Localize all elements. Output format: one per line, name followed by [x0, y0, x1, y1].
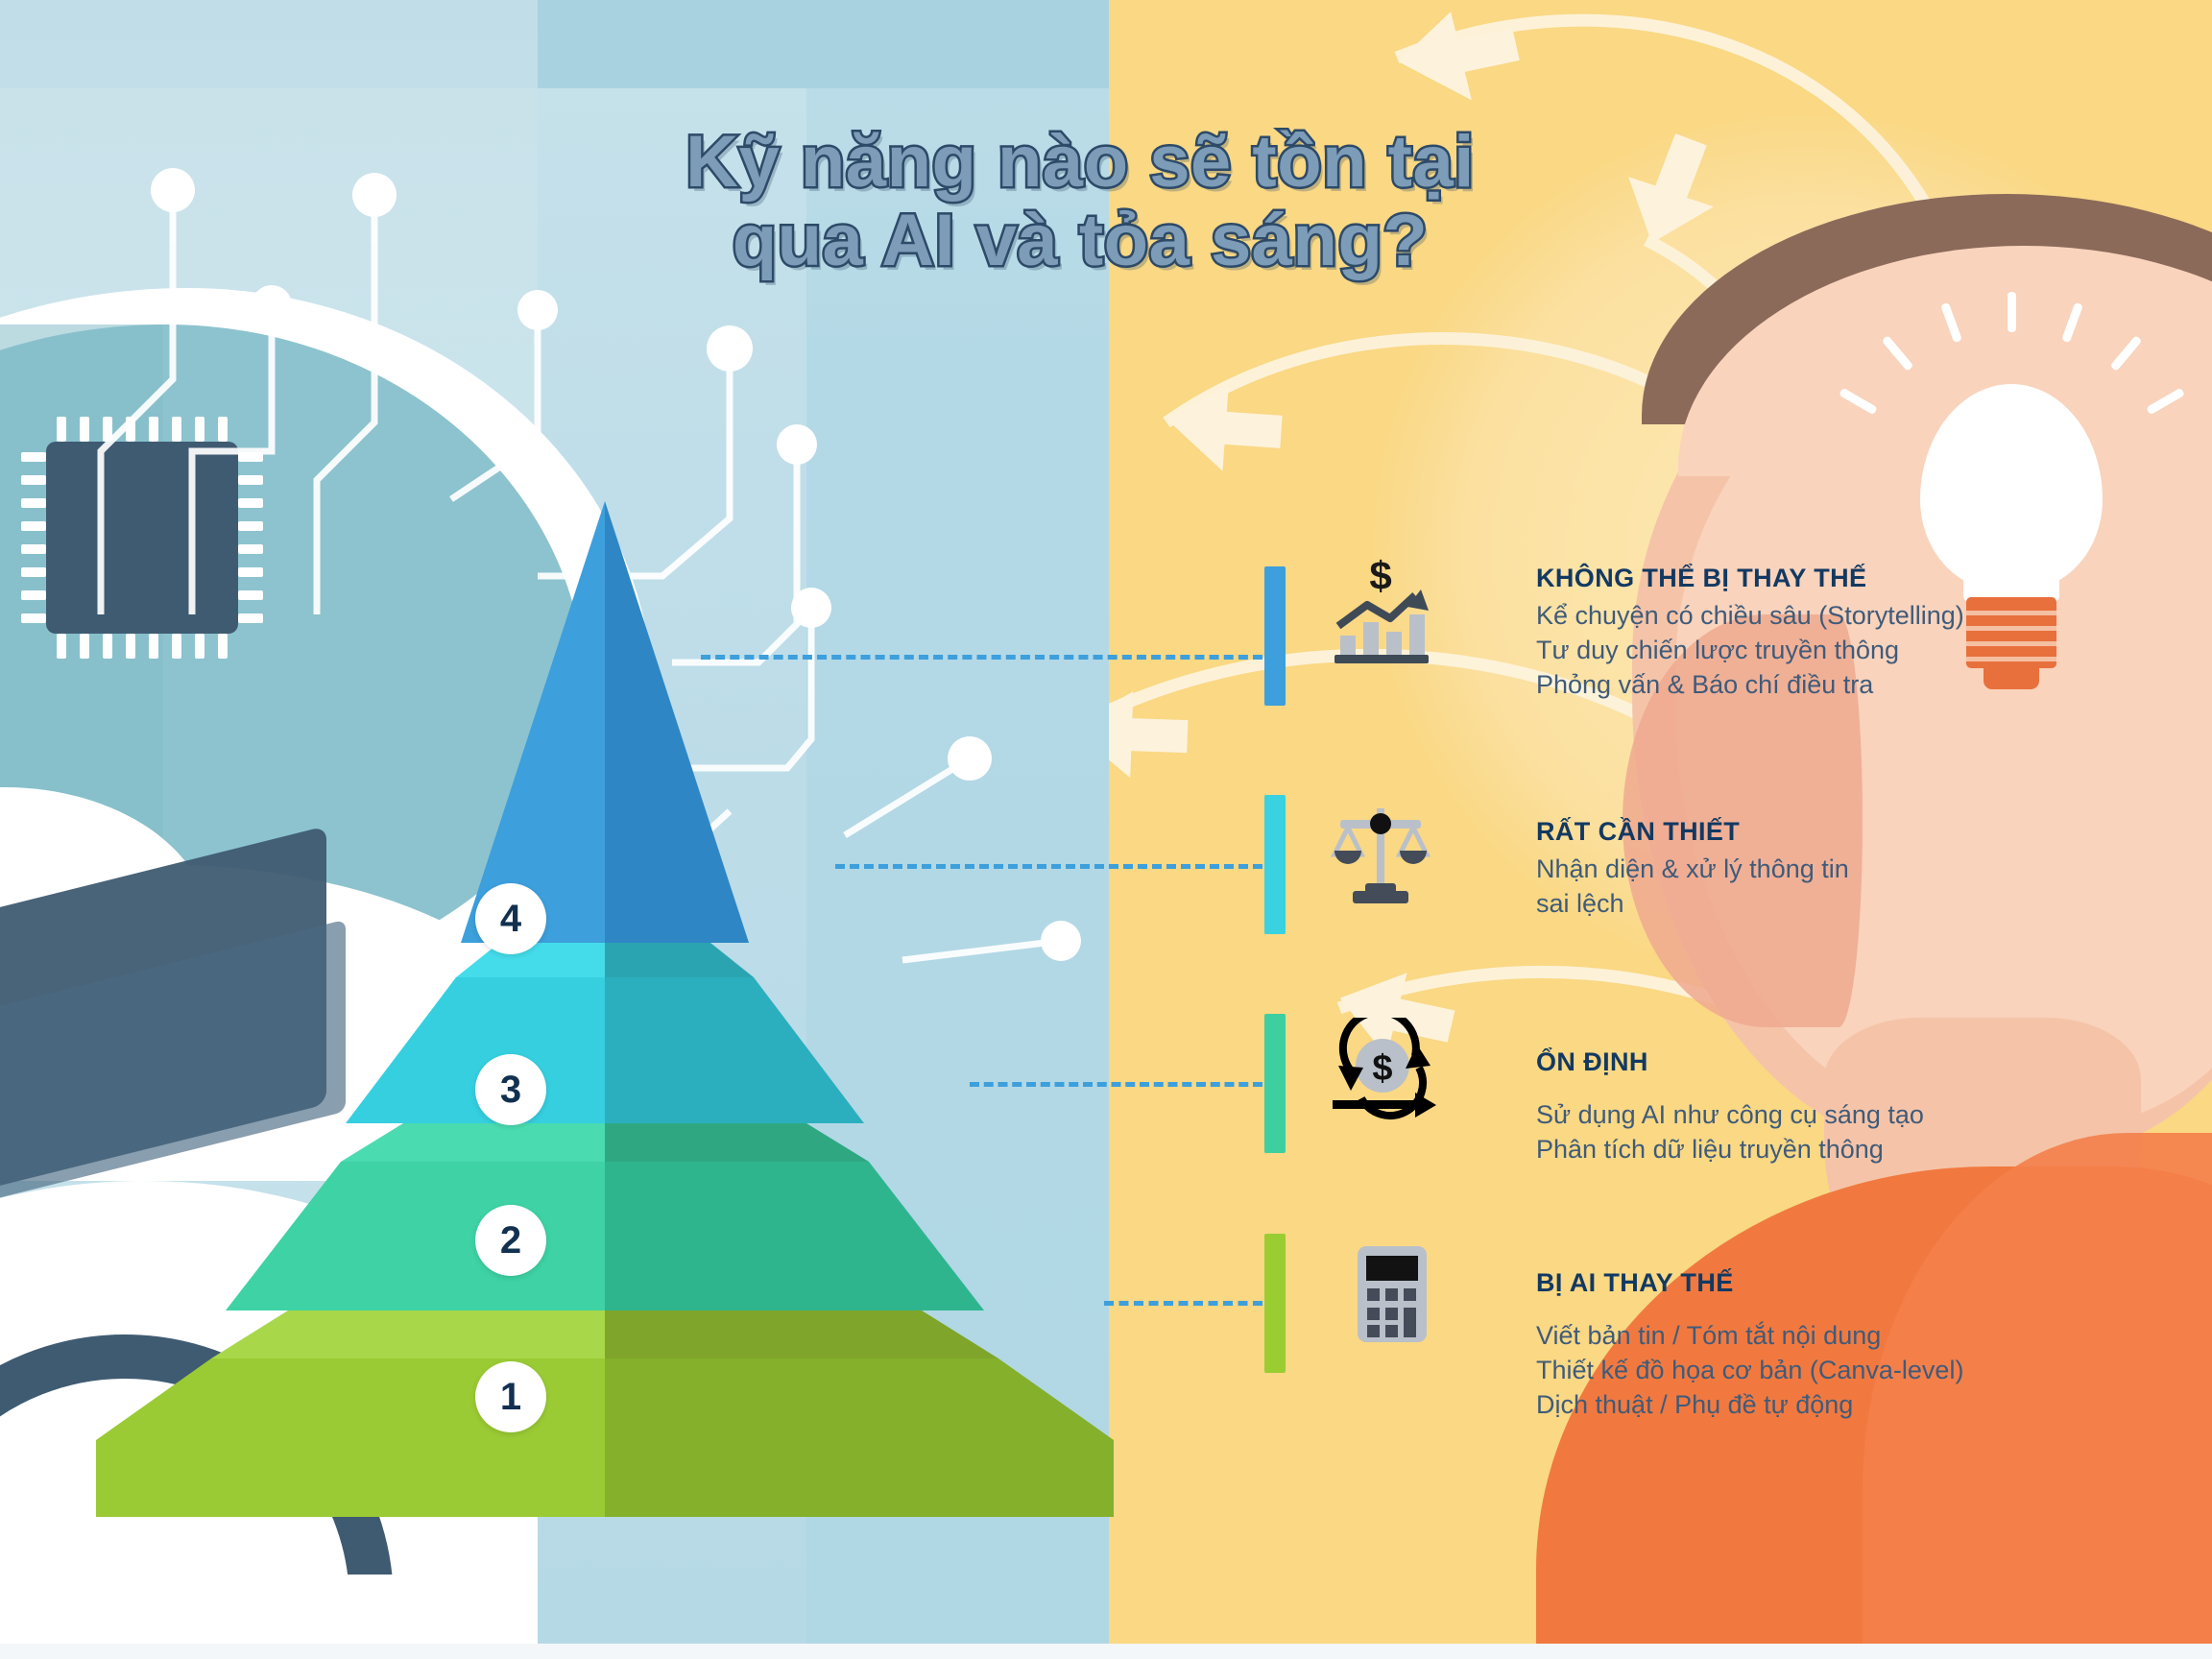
calculator-icon — [1334, 1237, 1450, 1352]
level-marker-1 — [1264, 1234, 1286, 1373]
page-title: Kỹ năng nào sẽ tồn tại qua AI và tỏa sán… — [538, 123, 1623, 280]
pyramid-level-3 — [346, 943, 864, 1123]
item-heading-1: BỊ AI THAY THẾ — [1536, 1267, 2151, 1298]
item-heading-2: ỔN ĐỊNH — [1536, 1046, 2151, 1077]
pyramid-number-1: 1 — [475, 1361, 546, 1432]
item-lines-2: Sử dụng AI như công cụ sáng tạo Phân tíc… — [1536, 1098, 2151, 1167]
item-lines-3: Nhận diện & xử lý thông tin sai lệch — [1536, 853, 2151, 922]
connector-line-1 — [1104, 1301, 1262, 1306]
infographic-canvas: Kỹ năng nào sẽ tồn tại qua AI và tỏa sán… — [0, 0, 2212, 1659]
item-level-1: BỊ AI THAY THẾ Viết bản tin / Tóm tắt nộ… — [1536, 1267, 2151, 1423]
item-heading-4: KHÔNG THỂ BỊ THAY THẾ — [1536, 563, 2151, 593]
level-marker-3 — [1264, 795, 1286, 934]
item-lines-1: Viết bản tin / Tóm tắt nội dung Thiết kế… — [1536, 1319, 2151, 1423]
level-marker-4 — [1264, 566, 1286, 706]
pyramid-number-2: 2 — [475, 1205, 546, 1276]
pyramid-level-2 — [226, 1123, 984, 1310]
pyramid-level-1 — [96, 1310, 1114, 1517]
item-level-4: KHÔNG THỂ BỊ THAY THẾ Kể chuyện có chiều… — [1536, 563, 2151, 703]
connector-line-3 — [835, 864, 1262, 869]
pyramid-number-3: 3 — [475, 1054, 546, 1125]
bottom-edge — [0, 1644, 2212, 1659]
item-level-3: RẤT CẦN THIẾT Nhận diện & xử lý thông ti… — [1536, 816, 2151, 922]
level-marker-2 — [1264, 1014, 1286, 1153]
svg-text:$: $ — [1372, 1048, 1392, 1089]
pyramid-number-4: 4 — [475, 883, 546, 954]
money-cycle-icon: $ — [1323, 1018, 1438, 1133]
growth-chart-dollar-icon: $ — [1323, 555, 1438, 670]
item-heading-3: RẤT CẦN THIẾT — [1536, 816, 2151, 847]
pyramid-chart — [96, 490, 1114, 1536]
item-lines-4: Kể chuyện có chiều sâu (Storytelling) Tư… — [1536, 599, 2151, 703]
balance-scales-icon — [1323, 795, 1438, 910]
connector-line-2 — [970, 1082, 1262, 1087]
item-level-2: ỔN ĐỊNH Sử dụng AI như công cụ sáng tạo … — [1536, 1046, 2151, 1167]
svg-text:$: $ — [1369, 555, 1391, 598]
pyramid-level-4 — [461, 501, 749, 943]
connector-line-4 — [701, 655, 1262, 660]
